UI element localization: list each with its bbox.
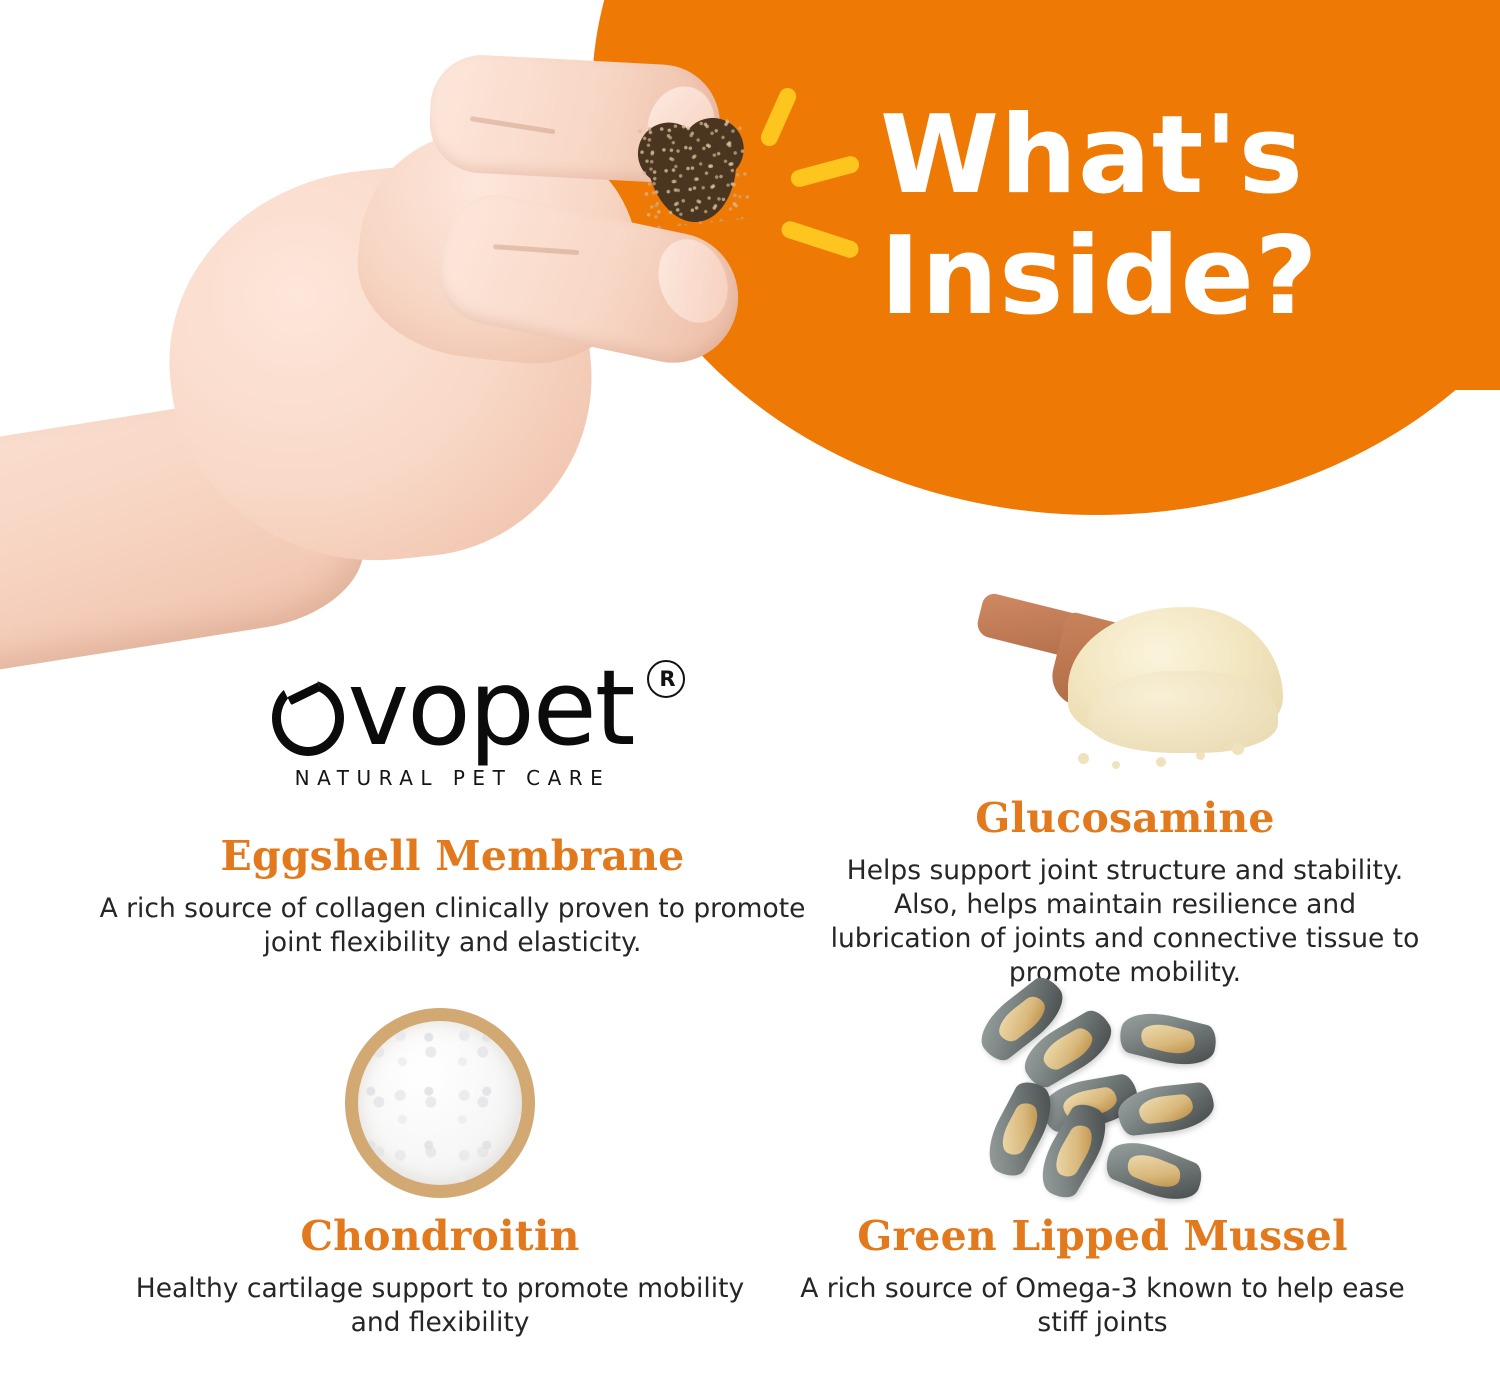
ingredient-title: Green Lipped Mussel (790, 1212, 1415, 1260)
hero-heading: What's Inside? (880, 96, 1420, 338)
ingredients-grid: vopet R NATURAL PET CARE Eggshell Membra… (0, 580, 1500, 1377)
ingredient-description: Healthy cartilage support to promote mob… (110, 1272, 770, 1340)
ingredient-card-glucosamine: Glucosamine Helps support joint structur… (830, 580, 1420, 990)
hero-heading-line-2: Inside? (880, 217, 1420, 338)
ingredient-card-green-lipped-mussel: Green Lipped Mussel A rich source of Ome… (790, 998, 1415, 1340)
brand-wordmark-letters: vopet (348, 647, 634, 769)
scoop-powder-image (830, 580, 1420, 790)
wooden-scoop-icon (960, 585, 1290, 785)
brand-wordmark: vopet R (272, 656, 634, 760)
ingredient-card-chondroitin: Chondroitin Healthy cartilage support to… (110, 998, 770, 1340)
ingredient-card-eggshell-membrane: vopet R NATURAL PET CARE Eggshell Membra… (90, 618, 815, 960)
egg-o-icon (272, 672, 346, 758)
ingredient-description: A rich source of Omega-3 known to help e… (790, 1272, 1415, 1340)
registered-trademark-icon: R (647, 660, 685, 698)
brand-tagline: NATURAL PET CARE (272, 766, 634, 790)
ingredient-description: Helps support joint structure and stabil… (830, 854, 1420, 990)
hero-banner: What's Inside? (0, 0, 1500, 600)
ingredient-title: Glucosamine (830, 794, 1420, 842)
hero-heading-line-1: What's (880, 93, 1304, 218)
green-lipped-mussels-icon (968, 988, 1238, 1218)
ingredient-title: Eggshell Membrane (90, 832, 815, 880)
ovopet-logo: vopet R NATURAL PET CARE (90, 618, 815, 828)
ingredient-description: A rich source of collagen clinically pro… (90, 892, 815, 960)
ingredient-title: Chondroitin (110, 1212, 770, 1260)
wooden-bowl-icon (345, 1008, 535, 1198)
mussels-image (790, 998, 1415, 1208)
heart-treat-icon (635, 115, 753, 230)
bowl-powder-image (110, 998, 770, 1208)
